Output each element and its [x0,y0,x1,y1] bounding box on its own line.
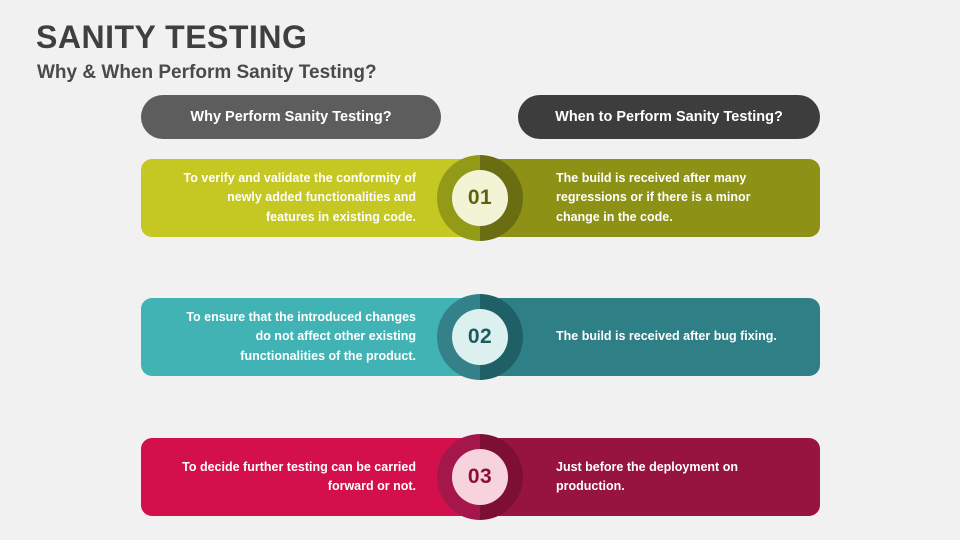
step-row-left-bar: To decide further testing can be carried… [141,438,480,516]
column-header-why: Why Perform Sanity Testing? [141,95,441,139]
step-row-right-text: Just before the deployment on production… [556,458,796,497]
column-header-when-label: When to Perform Sanity Testing? [555,109,783,125]
step-row-left-text: To verify and validate the conformity of… [176,169,416,228]
step-row: To verify and validate the conformity of… [0,159,960,237]
slide-canvas: SANITY TESTING Why & When Perform Sanity… [0,0,960,540]
page-subtitle: Why & When Perform Sanity Testing? [37,61,377,85]
page-title: SANITY TESTING [36,18,307,56]
step-row-left-bar: To ensure that the introduced changes do… [141,298,480,376]
step-row: To decide further testing can be carried… [0,438,960,516]
step-row-right-text: The build is received after bug fixing. [556,327,777,347]
step-row: To ensure that the introduced changes do… [0,298,960,376]
step-row-left-text: To ensure that the introduced changes do… [176,308,416,367]
step-row-right-bar: Just before the deployment on production… [480,438,820,516]
column-header-when: When to Perform Sanity Testing? [518,95,820,139]
step-number-label: 03 [452,449,508,505]
step-number-label: 02 [452,309,508,365]
step-row-right-bar: The build is received after many regress… [480,159,820,237]
step-row-left-bar: To verify and validate the conformity of… [141,159,480,237]
step-number-circle: 02 [437,294,523,380]
step-number-circle: 03 [437,434,523,520]
step-number-label: 01 [452,170,508,226]
step-row-right-bar: The build is received after bug fixing. [480,298,820,376]
step-row-left-text: To decide further testing can be carried… [176,458,416,497]
column-header-why-label: Why Perform Sanity Testing? [190,109,391,125]
step-number-circle: 01 [437,155,523,241]
step-row-right-text: The build is received after many regress… [556,169,796,228]
